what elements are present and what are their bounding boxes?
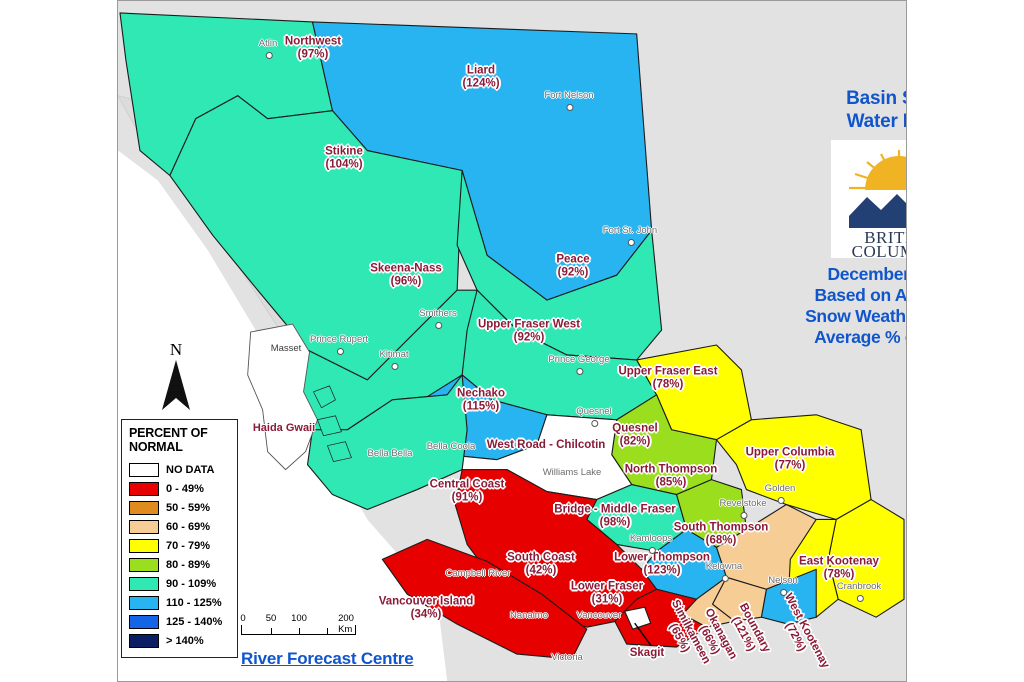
legend-item-90-109[interactable]: 90 - 109% <box>129 574 231 593</box>
bc-logo-graphic: BRITISH COLUMBIA <box>831 140 907 258</box>
legend-item-110-125[interactable]: 110 - 125% <box>129 593 231 612</box>
legend-label: 60 - 69% <box>166 521 210 533</box>
scale-bar-line <box>241 625 356 635</box>
legend-swatch <box>129 577 159 591</box>
legend-swatch <box>129 615 159 629</box>
legend-item-50-59[interactable]: 50 - 59% <box>129 498 231 517</box>
north-arrow-icon <box>159 358 193 412</box>
legend-swatch <box>129 596 159 610</box>
title-block: Basin Snow Water Index <box>790 87 907 348</box>
legend-title: PERCENT OF NORMAL <box>129 426 231 454</box>
legend-title-line1: PERCENT OF <box>129 426 231 440</box>
legend-swatch <box>129 463 159 477</box>
legend-item-no-data[interactable]: NO DATA <box>129 460 231 479</box>
map-subtitle-line2: Based on Automated <box>790 285 907 306</box>
legend-label: NO DATA <box>166 464 214 476</box>
legend-item-60-69[interactable]: 60 - 69% <box>129 517 231 536</box>
legend-swatch <box>129 558 159 572</box>
legend-label: 125 - 140% <box>166 616 222 628</box>
map-title-line2: Water Index <box>790 110 907 133</box>
legend-label: 0 - 49% <box>166 483 204 495</box>
legend-label: 50 - 59% <box>166 502 210 514</box>
map-subtitle-line3: Snow Weather Stations <box>790 306 907 327</box>
legend-label: 110 - 125% <box>166 597 222 609</box>
scale-tick-50: 50 <box>266 613 277 624</box>
legend-item-70-79[interactable]: 70 - 79% <box>129 536 231 555</box>
legend-swatch <box>129 501 159 515</box>
north-arrow-label: N <box>159 341 193 358</box>
river-forecast-centre-link[interactable]: River Forecast Centre <box>241 649 413 669</box>
scale-tick-100: 100 <box>291 613 307 624</box>
legend-swatch <box>129 634 159 648</box>
legend-label: > 140% <box>166 635 204 647</box>
svg-text:COLUMBIA: COLUMBIA <box>852 242 907 258</box>
legend-item-over-140[interactable]: > 140% <box>129 631 231 650</box>
legend-swatch <box>129 482 159 496</box>
legend-item-0-49[interactable]: 0 - 49% <box>129 479 231 498</box>
british-columbia-logo: BRITISH COLUMBIA <box>831 140 907 258</box>
map-title-line1: Basin Snow <box>790 87 907 110</box>
north-arrow: N <box>159 341 193 413</box>
map-subtitle-line4: Average % of Median <box>790 327 907 348</box>
scale-bar: 0 50 100 200 Km <box>241 613 356 635</box>
map-canvas[interactable]: Northwest (97%) Liard (124%) Stikine (10… <box>117 0 907 682</box>
legend-title-line2: NORMAL <box>129 440 231 454</box>
legend-item-80-89[interactable]: 80 - 89% <box>129 555 231 574</box>
legend-label: 70 - 79% <box>166 540 210 552</box>
legend-panel: PERCENT OF NORMAL NO DATA 0 - 49% 50 - 5… <box>121 419 238 658</box>
legend-label: 80 - 89% <box>166 559 210 571</box>
legend-swatch <box>129 539 159 553</box>
scale-bar-ticks: 0 50 100 200 Km <box>241 613 356 625</box>
legend-swatch <box>129 520 159 534</box>
snow-water-index-map-page: Northwest (97%) Liard (124%) Stikine (10… <box>0 0 1024 682</box>
legend-label: 90 - 109% <box>166 578 216 590</box>
map-date: December 1, 2025 <box>790 264 907 285</box>
scale-tick-0: 0 <box>240 613 245 624</box>
legend-item-125-140[interactable]: 125 - 140% <box>129 612 231 631</box>
